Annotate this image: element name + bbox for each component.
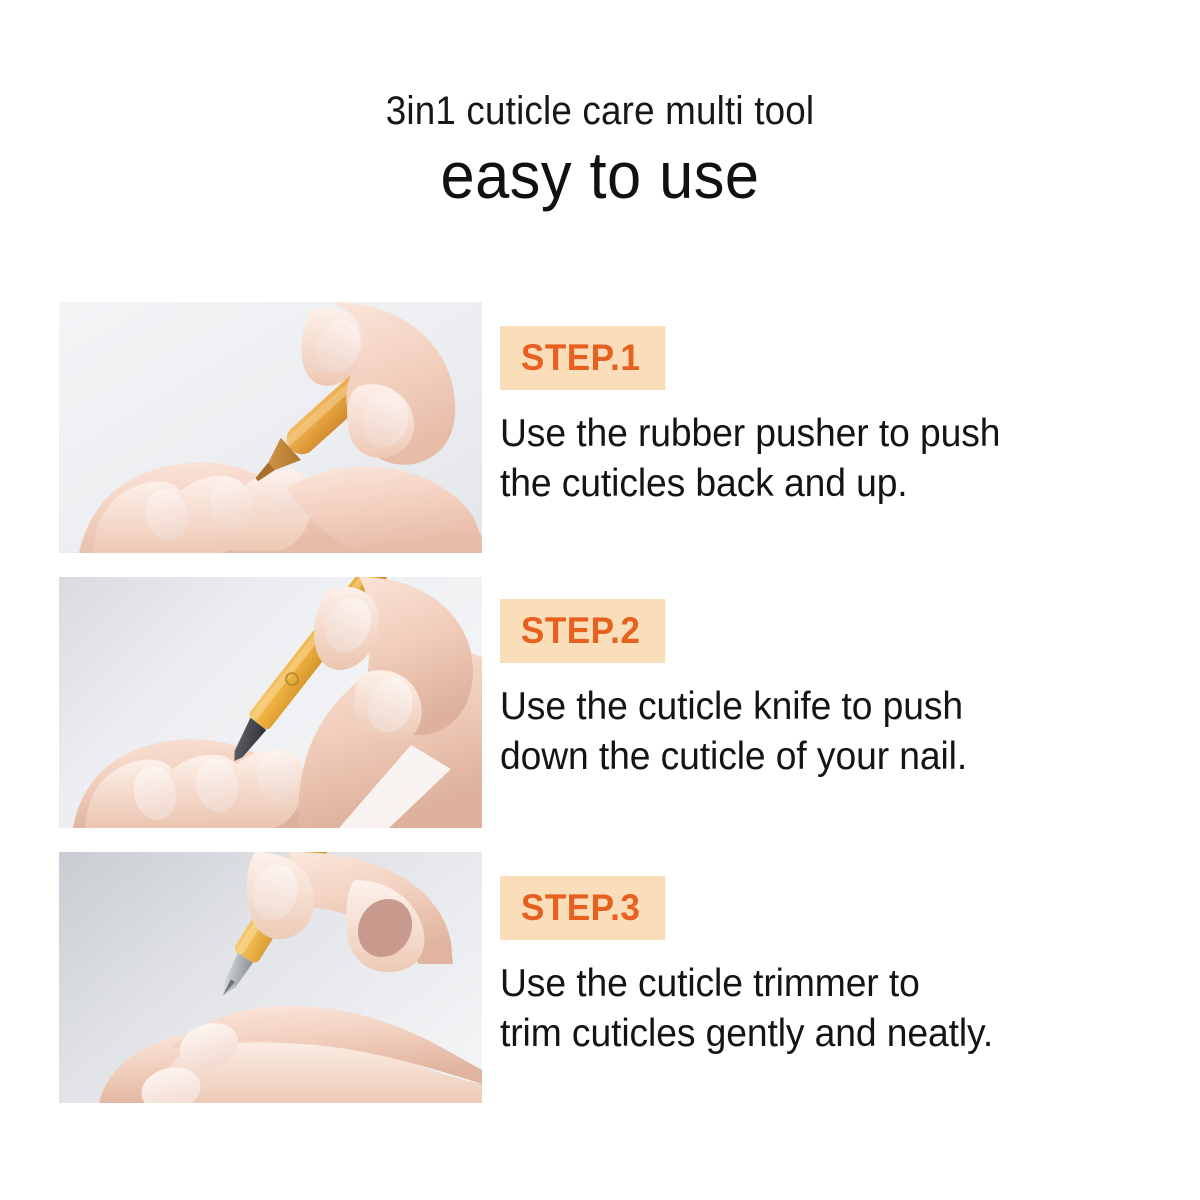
step-row: STEP.1 Use the rubber pusher to push the… — [0, 302, 1200, 553]
step-description-3: Use the cuticle trimmer to trim cuticles… — [500, 959, 1130, 1058]
rubber-pusher-illustration — [59, 302, 482, 553]
header: 3in1 cuticle care multi tool easy to use — [0, 90, 1200, 211]
step-badge-1: STEP.1 — [500, 326, 665, 390]
infographic-page: 3in1 cuticle care multi tool easy to use — [0, 0, 1200, 1200]
product-subtitle: 3in1 cuticle care multi tool — [48, 90, 1152, 132]
page-title: easy to use — [42, 140, 1158, 211]
cuticle-trimmer-illustration — [59, 852, 482, 1103]
step-row: STEP.3 Use the cuticle trimmer to trim c… — [0, 852, 1200, 1103]
step-description-1: Use the rubber pusher to push the cuticl… — [500, 409, 1130, 508]
step-row: STEP.2 Use the cuticle knife to push dow… — [0, 577, 1200, 828]
cuticle-knife-illustration — [59, 577, 482, 828]
step-copy-2: STEP.2 Use the cuticle knife to push dow… — [500, 599, 1160, 781]
step-description-2: Use the cuticle knife to push down the c… — [500, 682, 1130, 781]
step-badge-3: STEP.3 — [500, 876, 665, 940]
step-badge-2: STEP.2 — [500, 599, 665, 663]
steps-list: STEP.1 Use the rubber pusher to push the… — [0, 302, 1200, 1127]
step-copy-1: STEP.1 Use the rubber pusher to push the… — [500, 326, 1160, 508]
step-photo-1 — [59, 302, 482, 553]
step-copy-3: STEP.3 Use the cuticle trimmer to trim c… — [500, 876, 1160, 1058]
step-photo-3 — [59, 852, 482, 1103]
step-photo-2 — [59, 577, 482, 828]
